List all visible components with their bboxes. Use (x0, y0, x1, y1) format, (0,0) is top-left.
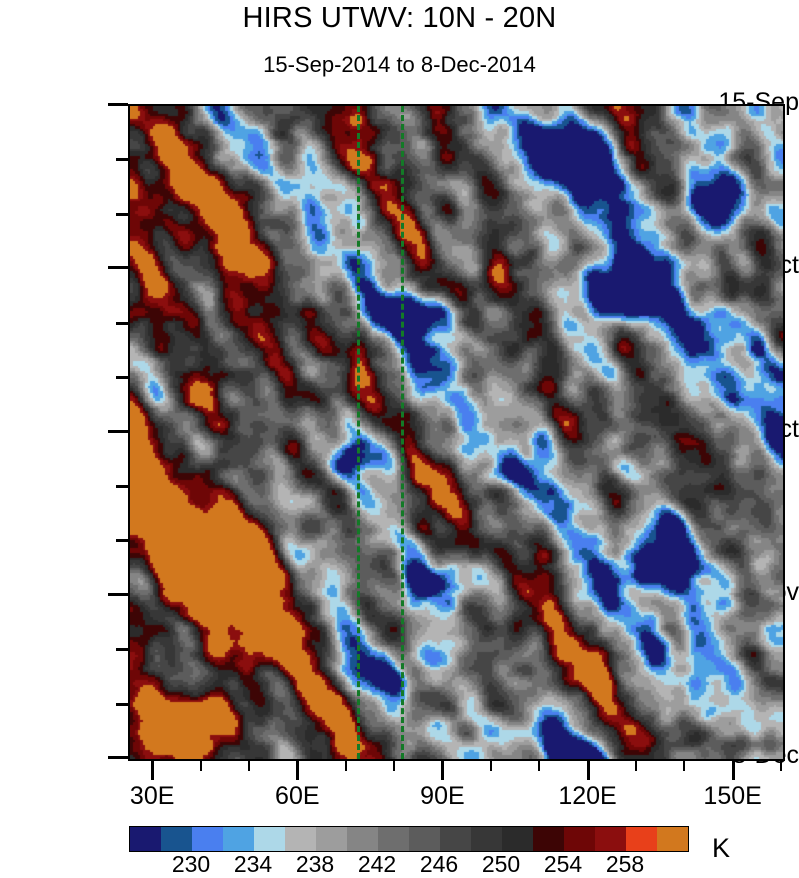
x-axis-minor-tick (345, 759, 347, 771)
colorbar-unit-label: K (712, 833, 730, 864)
y-axis-minor-tick (116, 703, 128, 706)
guide-line-1 (401, 106, 404, 759)
colorbar-cell-6 (316, 827, 347, 851)
y-axis-major-tick (108, 756, 128, 759)
colorbar-cell-0 (130, 827, 161, 851)
y-axis-minor-tick (116, 539, 128, 542)
y-axis-major-tick (108, 103, 128, 106)
colorbar-tick-1: 234 (234, 851, 272, 878)
colorbar-cell-5 (285, 827, 316, 851)
x-axis-minor-tick (490, 759, 492, 771)
colorbar-cell-12 (502, 827, 533, 851)
colorbar-cell-17 (657, 827, 688, 851)
colorbar-cell-1 (161, 827, 192, 851)
colorbar-cell-16 (626, 827, 657, 851)
colorbar-cell-7 (347, 827, 378, 851)
contour-field (130, 106, 783, 759)
colorbar-cell-4 (254, 827, 285, 851)
x-axis-major-tick (151, 759, 154, 780)
hovmoller-plot[interactable] (128, 104, 785, 761)
colorbar-cell-9 (409, 827, 440, 851)
y-axis-minor-tick (116, 485, 128, 488)
colorbar-tick-6: 254 (544, 851, 582, 878)
colorbar-tick-3: 242 (358, 851, 396, 878)
colorbar-tick-5: 250 (482, 851, 520, 878)
colorbar[interactable] (129, 826, 689, 852)
colorbar-cell-13 (533, 827, 564, 851)
x-axis-major-tick (732, 759, 735, 780)
y-axis-major-tick (108, 593, 128, 596)
x-axis-label-2: 90E (420, 782, 464, 811)
x-axis-minor-tick (393, 759, 395, 771)
y-axis-minor-tick (116, 158, 128, 161)
x-axis-major-tick (587, 759, 590, 780)
y-axis-minor-tick (116, 213, 128, 216)
x-axis-minor-tick (635, 759, 637, 771)
y-axis-minor-tick (116, 322, 128, 325)
colorbar-cell-11 (471, 827, 502, 851)
colorbar-tick-4: 246 (420, 851, 458, 878)
colorbar-cell-14 (564, 827, 595, 851)
x-axis-minor-tick (780, 759, 782, 771)
x-axis-minor-tick (248, 759, 250, 771)
colorbar-cell-3 (223, 827, 254, 851)
x-axis-label-4: 150E (703, 782, 761, 811)
y-axis-minor-tick (116, 376, 128, 379)
x-axis-minor-tick (538, 759, 540, 771)
x-axis-minor-tick (200, 759, 202, 771)
figure-root: HIRS UTWV: 10N - 20N 15-Sep-2014 to 8-De… (0, 0, 799, 869)
x-axis-label-3: 120E (558, 782, 616, 811)
x-axis-label-1: 60E (275, 782, 319, 811)
colorbar-cell-8 (378, 827, 409, 851)
guide-line-0 (357, 106, 360, 759)
page-subtitle: 15-Sep-2014 to 8-Dec-2014 (0, 52, 799, 78)
y-axis-major-tick (108, 430, 128, 433)
y-axis-minor-tick (116, 648, 128, 651)
colorbar-tick-7: 258 (606, 851, 644, 878)
y-axis-major-tick (108, 266, 128, 269)
x-axis-major-tick (296, 759, 299, 780)
colorbar-tick-2: 238 (296, 851, 334, 878)
colorbar-tick-0: 230 (172, 851, 210, 878)
colorbar-cell-10 (440, 827, 471, 851)
x-axis-label-0: 30E (130, 782, 174, 811)
x-axis-major-tick (441, 759, 444, 780)
page-title: HIRS UTWV: 10N - 20N (0, 2, 799, 35)
colorbar-cell-15 (595, 827, 626, 851)
x-axis-minor-tick (683, 759, 685, 771)
colorbar-cell-2 (192, 827, 223, 851)
